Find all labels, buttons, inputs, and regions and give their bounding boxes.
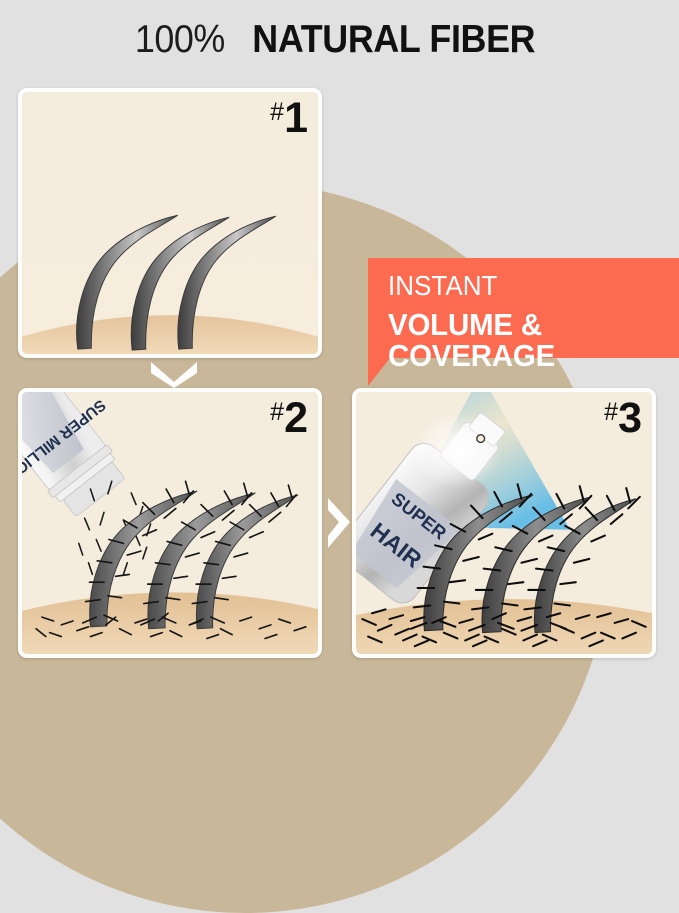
- title-main: NATURAL FIBER: [252, 18, 535, 62]
- panel-1-number: #1: [270, 97, 307, 140]
- page-title: 100%NATURAL FIBER: [0, 18, 679, 62]
- infographic-stage: 100%NATURAL FIBER: [0, 0, 679, 679]
- nozzle-glow: [413, 411, 502, 489]
- nozzle-opening: [477, 435, 485, 443]
- promo-banner-text: INSTANT VOLUME & COVERAGE: [388, 272, 679, 371]
- panel-3-number: #3: [604, 397, 641, 440]
- hash-symbol: #: [270, 98, 284, 126]
- promo-banner: INSTANT VOLUME & COVERAGE: [368, 258, 679, 358]
- chevron-down-icon: [148, 358, 200, 388]
- title-percent: 100%: [135, 18, 225, 62]
- promo-banner-tail: [368, 358, 390, 386]
- panel-2-number: #2: [270, 397, 307, 440]
- scalp-skin: [18, 592, 322, 658]
- promo-line-2: VOLUME & COVERAGE: [388, 309, 664, 371]
- step-number: 3: [618, 394, 641, 442]
- hash-symbol: #: [270, 398, 284, 426]
- promo-line-1: INSTANT: [388, 272, 659, 300]
- step-number: 2: [284, 394, 307, 442]
- panel-step-3: SUPER HAIR: [352, 388, 656, 658]
- chevron-right-icon: [325, 496, 353, 550]
- hash-symbol: #: [604, 398, 618, 426]
- step-number: 1: [284, 94, 307, 142]
- panel-step-2: SUPER MILLION: [18, 388, 322, 658]
- panel-step-1: #1: [18, 88, 322, 358]
